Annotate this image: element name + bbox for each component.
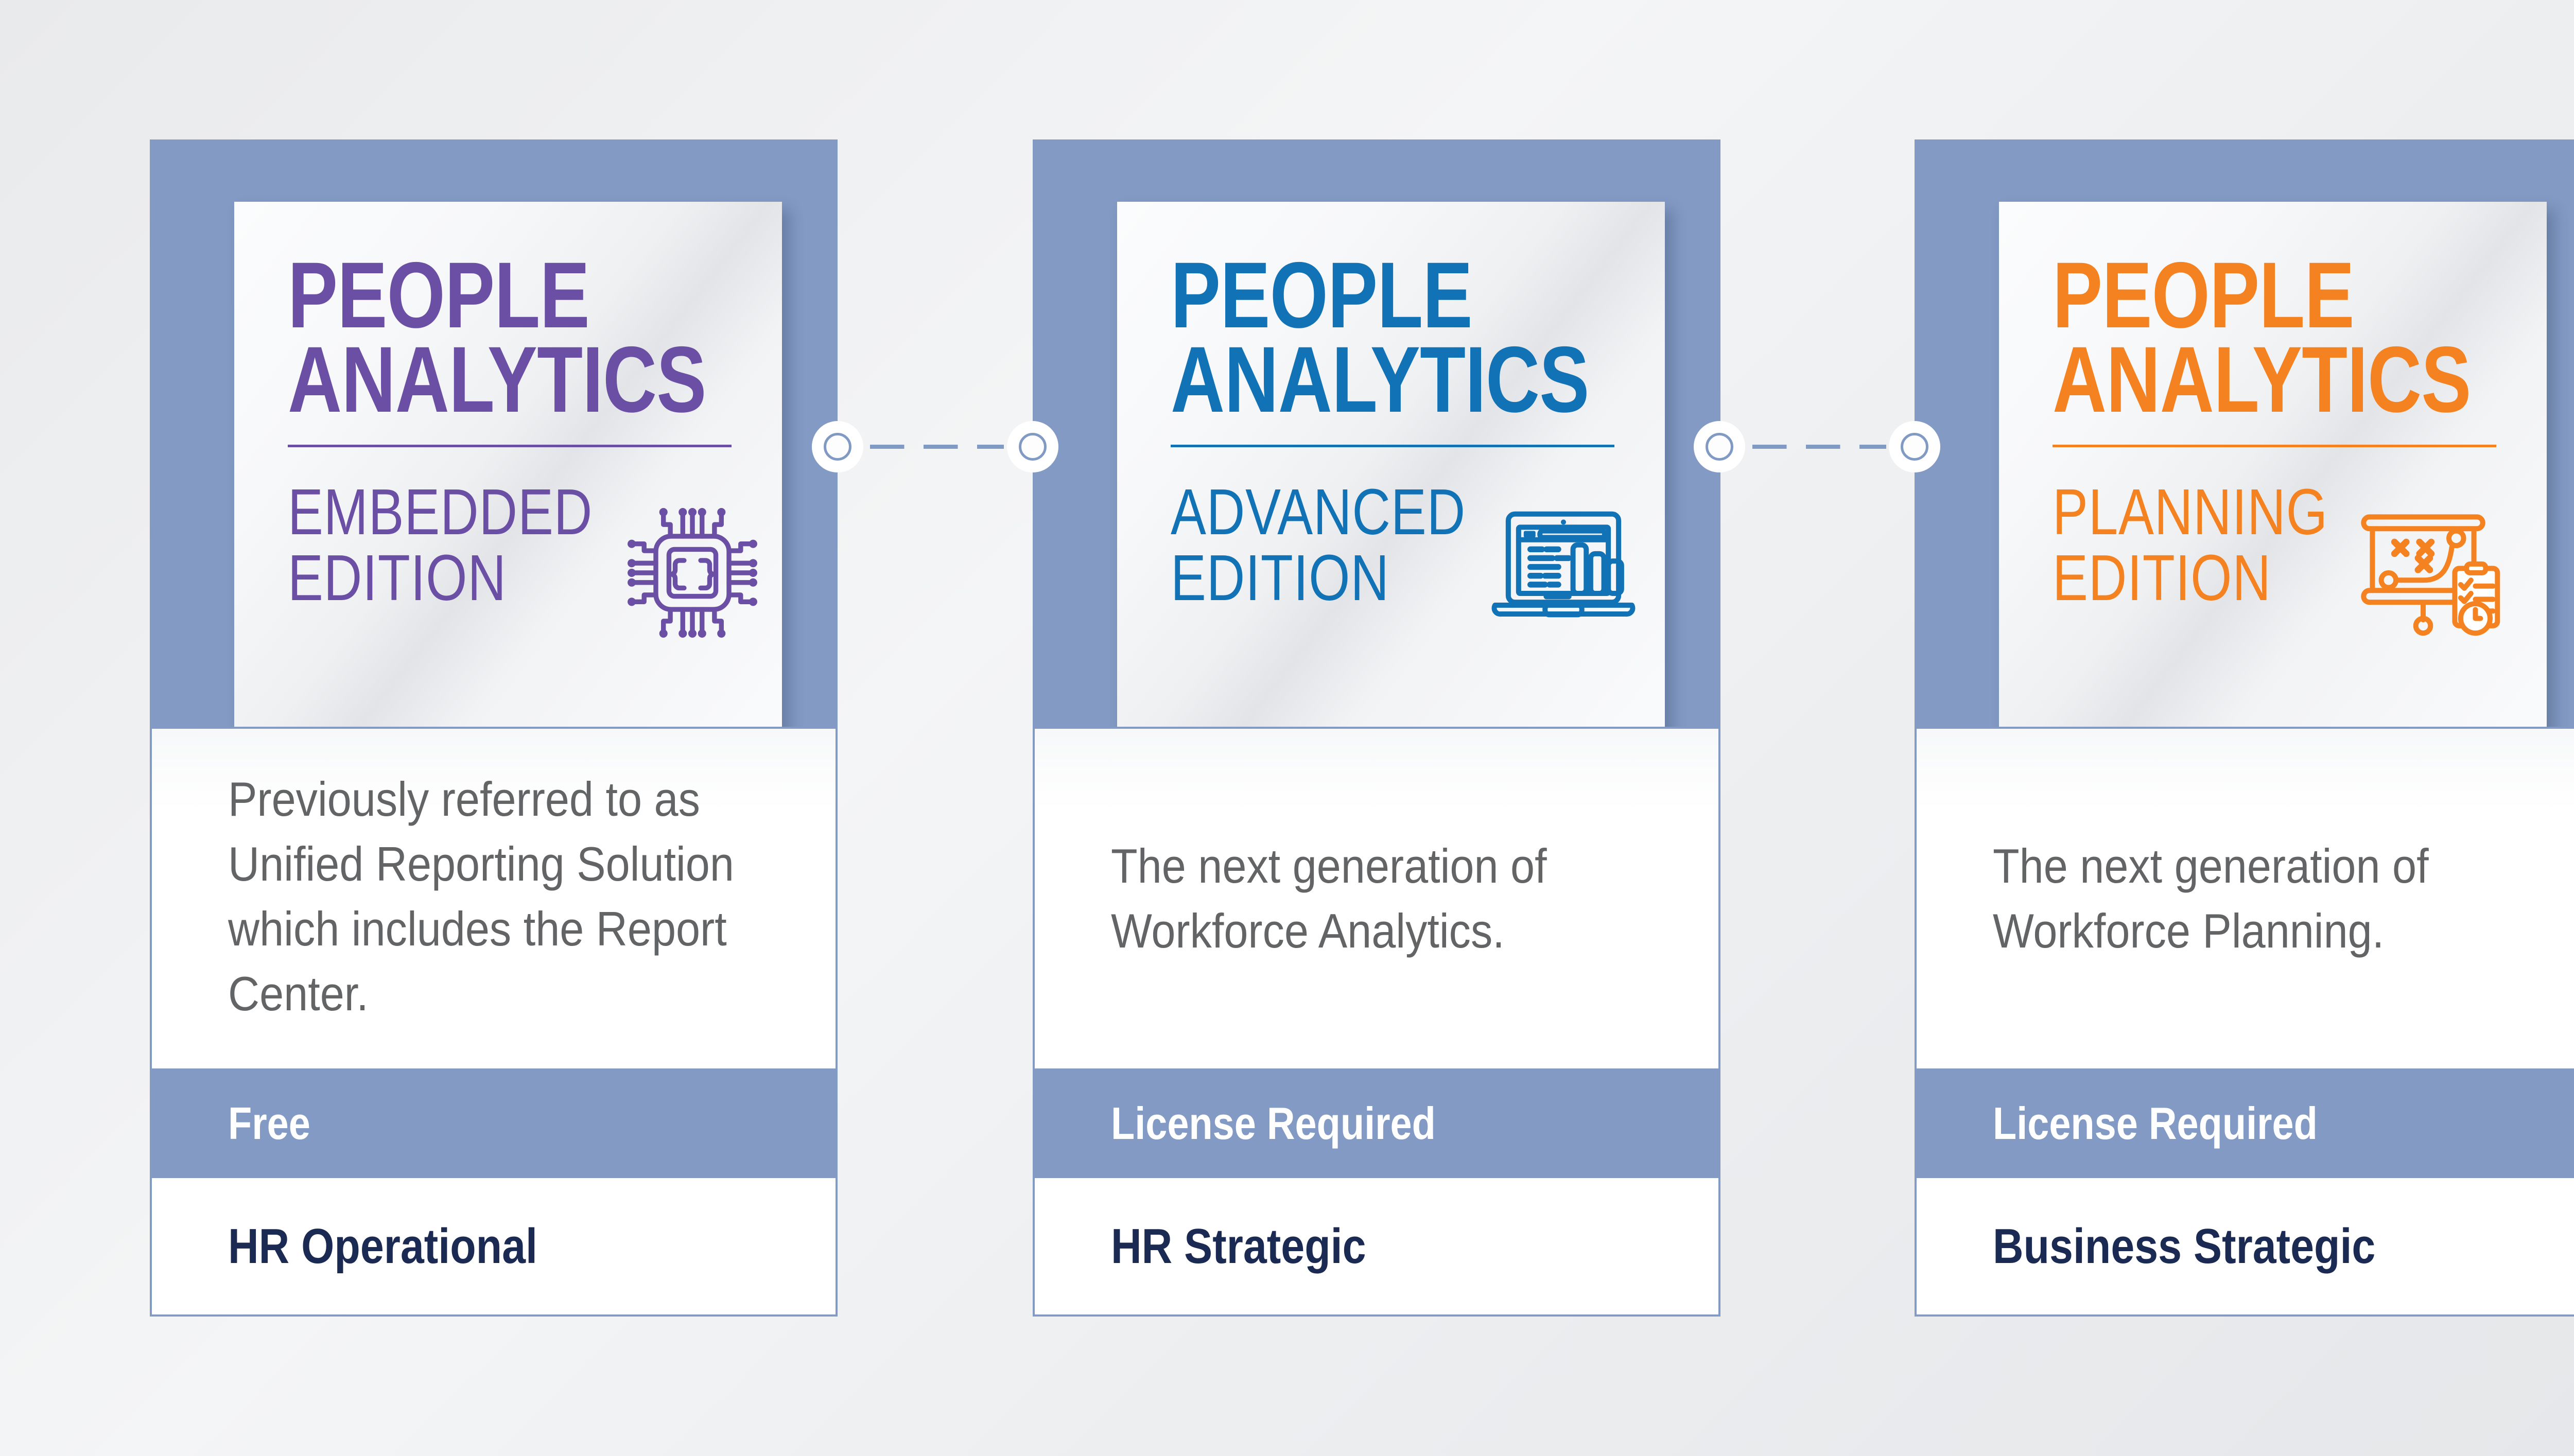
- brand-divider: [1171, 445, 1614, 447]
- card-header-planning: PEOPLE ANALYTICS PLANNING EDITION: [1915, 139, 2574, 727]
- audience-footer: Business Strategic: [1917, 1178, 2574, 1314]
- license-label: Free: [228, 1097, 310, 1150]
- card-header-advanced: PEOPLE ANALYTICS ADVANCED EDITION: [1033, 139, 1720, 727]
- brand-divider: [288, 445, 732, 447]
- connector-node-card2-right: [1694, 421, 1745, 472]
- edition-card-planning[interactable]: PEOPLE ANALYTICS PLANNING EDITION: [1915, 139, 2574, 1317]
- card-body-embedded: Previously referred to as Unified Report…: [150, 727, 838, 1317]
- brand-divider: [2053, 445, 2496, 447]
- whiteboard-strategy-clipboard-icon: [2346, 504, 2500, 642]
- brand-line-2: ANALYTICS: [288, 338, 646, 422]
- card-description-text: The next generation of Workforce Analyti…: [1111, 834, 1630, 963]
- brand-line-2: ANALYTICS: [1171, 338, 1529, 422]
- license-label: License Required: [1993, 1097, 2318, 1150]
- product-tile-planning: PEOPLE ANALYTICS PLANNING EDITION: [1999, 202, 2547, 747]
- product-tile-advanced: PEOPLE ANALYTICS ADVANCED EDITION: [1117, 202, 1665, 747]
- connector-node-card1-right: [812, 421, 863, 472]
- card-description-block: Previously referred to as Unified Report…: [152, 729, 836, 1068]
- edition-title: ADVANCED EDITION: [1171, 479, 1466, 611]
- license-band: Free: [152, 1068, 836, 1178]
- card-description-block: The next generation of Workforce Analyti…: [1035, 729, 1718, 1068]
- card-description-block: The next generation of Workforce Plannin…: [1917, 729, 2574, 1068]
- card-header-embedded: PEOPLE ANALYTICS EMBEDDED EDITION: [150, 139, 838, 727]
- edition-line-1: PLANNING: [2053, 476, 2328, 548]
- audience-footer: HR Operational: [152, 1178, 836, 1314]
- edition-line-1: ADVANCED: [1171, 476, 1466, 548]
- editions-comparison-board: PEOPLE ANALYTICS EMBEDDED EDITION: [0, 0, 2574, 1456]
- card-body-advanced: The next generation of Workforce Analyti…: [1033, 727, 1720, 1317]
- audience-footer: HR Strategic: [1035, 1178, 1718, 1314]
- edition-line-1: EMBEDDED: [288, 476, 593, 548]
- connector-node-card3-left: [1889, 421, 1940, 472]
- microchip-braces-icon: [615, 504, 770, 642]
- license-label: License Required: [1111, 1097, 1436, 1150]
- brand-title: PEOPLE ANALYTICS: [2053, 253, 2411, 422]
- edition-title: PLANNING EDITION: [2053, 479, 2328, 611]
- edition-line-2: EDITION: [1171, 545, 1466, 611]
- connector-line-1-2: [870, 445, 1004, 449]
- license-band: License Required: [1917, 1068, 2574, 1178]
- card-body-planning: The next generation of Workforce Plannin…: [1915, 727, 2574, 1317]
- card-description-text: Previously referred to as Unified Report…: [228, 767, 747, 1026]
- connector-line-2-3: [1752, 445, 1886, 449]
- edition-line-2: EDITION: [288, 545, 593, 611]
- brand-title: PEOPLE ANALYTICS: [1171, 253, 1529, 422]
- connector-node-card2-left: [1007, 421, 1058, 472]
- audience-label: HR Operational: [228, 1218, 537, 1275]
- audience-label: HR Strategic: [1111, 1218, 1366, 1275]
- edition-card-advanced[interactable]: PEOPLE ANALYTICS ADVANCED EDITION: [1033, 139, 1720, 1317]
- license-band: License Required: [1035, 1068, 1718, 1178]
- edition-line-2: EDITION: [2053, 545, 2328, 611]
- brand-title: PEOPLE ANALYTICS: [288, 253, 646, 422]
- laptop-dashboard-icon: [1486, 504, 1641, 642]
- audience-label: Business Strategic: [1993, 1218, 2375, 1275]
- card-description-text: The next generation of Workforce Plannin…: [1993, 834, 2512, 963]
- brand-line-2: ANALYTICS: [2053, 338, 2411, 422]
- edition-title: EMBEDDED EDITION: [288, 479, 593, 611]
- product-tile-embedded: PEOPLE ANALYTICS EMBEDDED EDITION: [234, 202, 782, 747]
- edition-card-embedded[interactable]: PEOPLE ANALYTICS EMBEDDED EDITION: [150, 139, 838, 1317]
